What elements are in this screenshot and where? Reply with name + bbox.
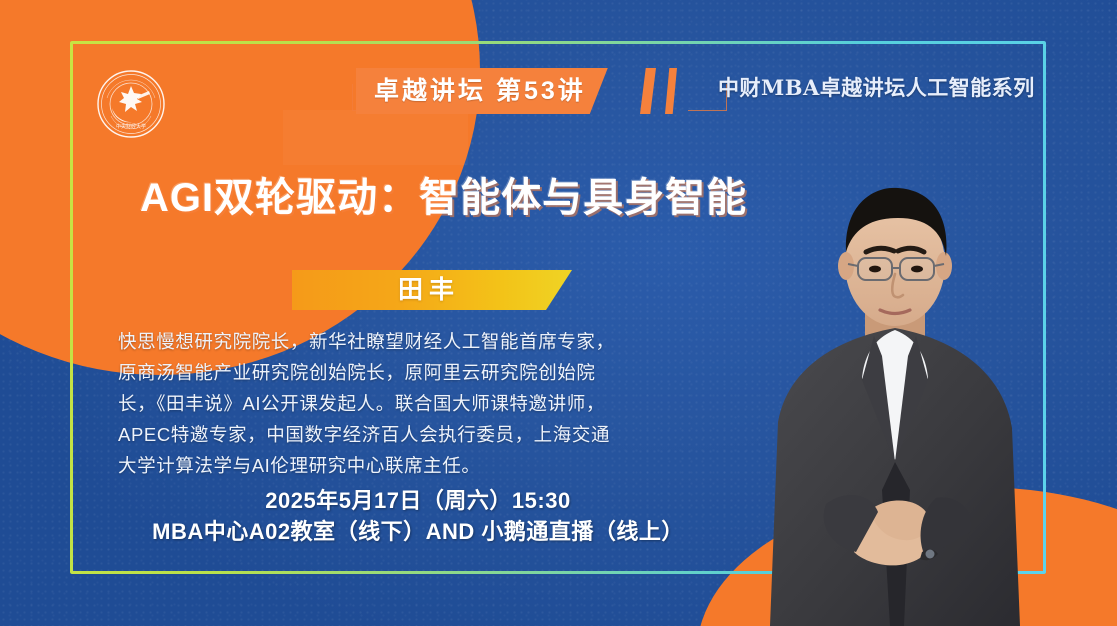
event-poster: 中央财经大学 卓越讲坛 第53讲 中财MBA卓越讲坛人工智能系列 AGI双轮驱动… — [0, 0, 1117, 626]
event-venue: MBA中心A02教室（线下）AND 小鹅通直播（线上） — [118, 516, 718, 548]
speaker-name-label: 田丰 — [398, 278, 466, 303]
bio-line: 快思慢想研究院院长，新华社瞭望财经人工智能首席专家， — [118, 326, 718, 357]
university-seal-icon: 中央财经大学 — [95, 68, 167, 140]
event-schedule: 2025年5月17日（周六）15:30 MBA中心A02教室（线下）AND 小鹅… — [118, 486, 718, 548]
series-label: 中财MBA卓越讲坛人工智能系列 — [718, 72, 1035, 102]
speaker-bio: 快思慢想研究院院长，新华社瞭望财经人工智能首席专家， 原商汤智能产业研究院创始院… — [118, 326, 718, 481]
bio-line: APEC特邀专家，中国数字经济百人会执行委员，上海交通 — [118, 419, 718, 450]
lecture-number-label: 卓越讲坛 第53讲 — [374, 79, 586, 104]
lecture-number-banner: 卓越讲坛 第53讲 — [356, 68, 608, 114]
event-datetime: 2025年5月17日（周六）15:30 — [118, 486, 718, 516]
bio-line: 长，《田丰说》AI公开课发起人。联合国大师课特邀讲师， — [118, 388, 718, 419]
bio-line: 原商汤智能产业研究院创始院长，原阿里云研究院创始院 — [118, 357, 718, 388]
speaker-portrait — [770, 160, 1020, 626]
speaker-name-banner: 田丰 — [292, 270, 572, 310]
page-title: AGI双轮驱动：智能体与具身智能 — [140, 176, 747, 220]
svg-text:中央财经大学: 中央财经大学 — [116, 123, 146, 130]
bio-line: 大学计算法学与AI伦理研究中心联席主任。 — [118, 450, 718, 481]
